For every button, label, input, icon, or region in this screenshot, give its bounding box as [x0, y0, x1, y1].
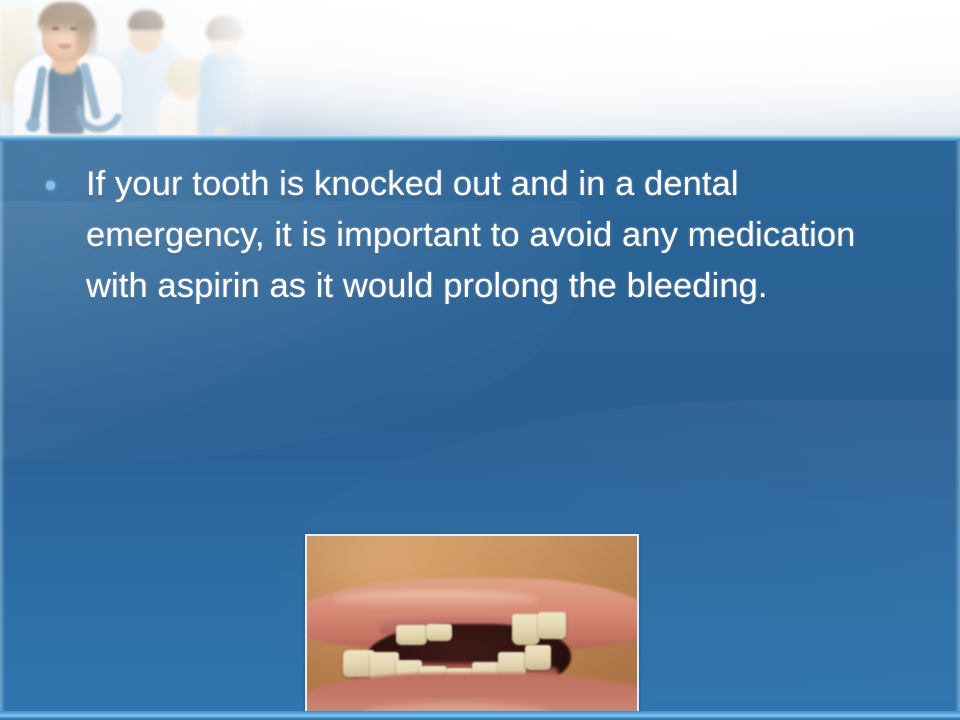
bullet-text: If your tooth is knocked out and in a de… [86, 159, 908, 312]
bullet-list: If your tooth is knocked out and in a de… [46, 159, 908, 312]
photo-soft-focus-overlay [307, 536, 637, 720]
left-edge-highlight [0, 141, 5, 720]
slide-body: If your tooth is knocked out and in a de… [0, 141, 960, 720]
bottom-edge-highlight [0, 711, 960, 720]
presentation-slide: If your tooth is knocked out and in a de… [0, 0, 960, 720]
knocked-out-tooth-photo [305, 534, 639, 720]
photo-haze-overlay [0, 0, 268, 137]
list-item: If your tooth is knocked out and in a de… [46, 159, 908, 312]
slide-header-banner [0, 0, 960, 137]
medical-team-photo [0, 0, 268, 137]
right-edge-highlight [955, 141, 960, 720]
photo-image-area [307, 536, 637, 720]
bullet-dot-icon [46, 181, 55, 190]
